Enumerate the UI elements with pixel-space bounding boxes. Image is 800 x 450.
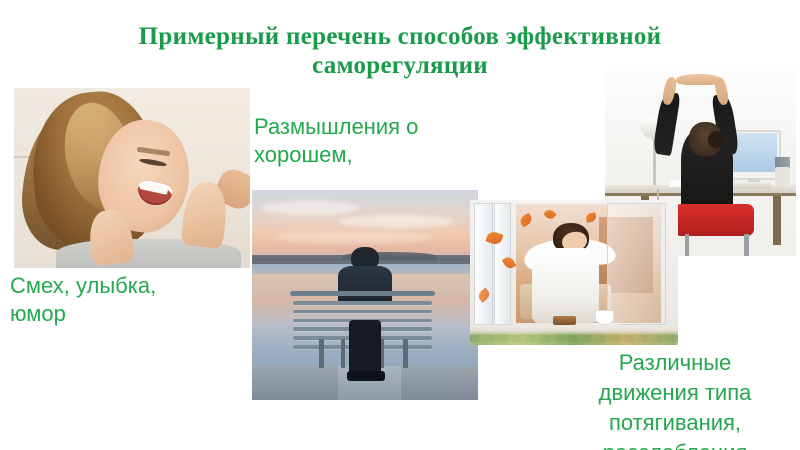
photo-desk-cup [775,167,790,186]
photo-cloud [261,201,360,216]
photo-window-pane [474,203,493,325]
photo-monitor-screen [731,133,777,172]
photo-woman-stretching-at-open-window [470,200,678,345]
photo-person-shoes [347,371,385,382]
photo-window-pane [607,203,665,325]
photo-person-legs [349,320,381,375]
photo-coffee-cup [595,310,614,325]
photo-bench-slat [293,310,432,314]
photo-cloud [338,215,456,228]
photo-clasped-hands [676,74,722,85]
photo-bench-leg [403,339,407,368]
photo-pastry [553,316,576,325]
photo-man-on-bench-at-lake [252,190,478,400]
photo-chair-leg [744,234,748,256]
presentation-slide: Примерный перечень способов эффективной … [0,0,800,450]
photo-white-robe [532,248,599,323]
photo-bench-slat [293,301,432,305]
photo-cloud [275,232,433,243]
photo-foliage [470,333,678,345]
photo-bench-leg [319,339,323,368]
photo-laughing-woman [14,88,250,268]
photo-desk-leg [773,196,781,244]
photo-red-chair [674,204,754,236]
caption-stretching-movements: Различные движения типа потягивания, рас… [550,348,800,450]
photo-bench-top-rail [290,291,435,297]
caption-positive-thinking: Размышления о хорошем, [254,113,494,169]
caption-laughter-smile-humor: Смех, улыбка, юмор [10,272,240,328]
photo-bench-leg [341,339,345,368]
photo-chair-leg [685,234,689,256]
